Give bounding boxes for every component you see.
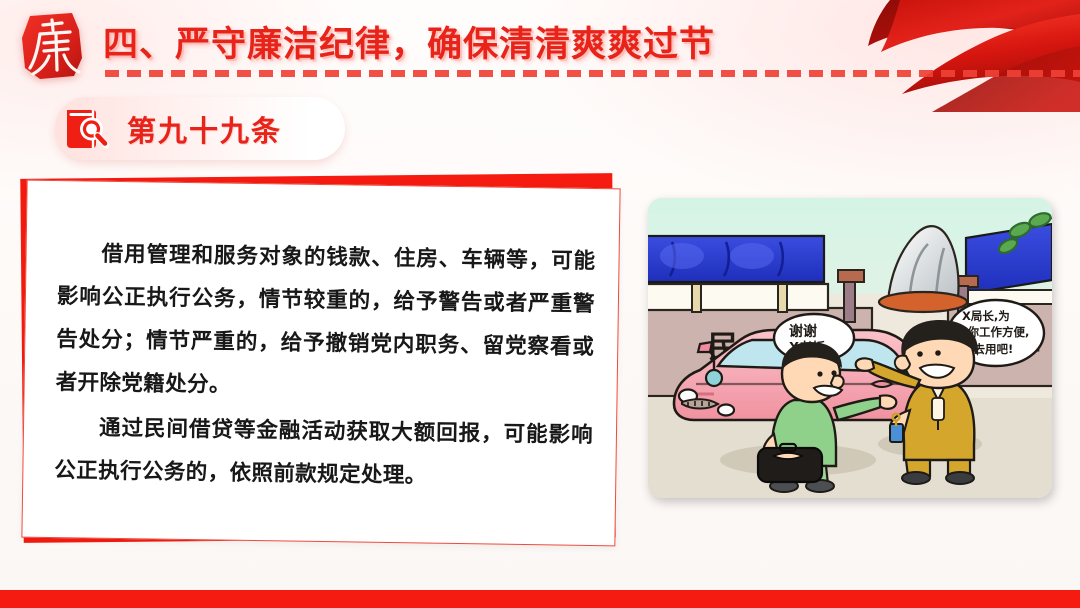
regulation-paragraph-1: 借用管理和服务对象的钱款、住房、车辆等，可能影响公正执行公务，情节较重的，给予警… bbox=[55, 232, 595, 412]
seal-character: 廉 bbox=[0, 0, 1, 1]
bubble-boss-text: X局长，为了你工作方便，拿去用吧！ bbox=[0, 0, 1, 1]
bribery-cartoon-illustration: 民 营 企 业 bbox=[648, 198, 1052, 498]
bottom-accent-bar bbox=[0, 590, 1080, 608]
svg-text:谢谢: 谢谢 bbox=[789, 323, 817, 340]
page-title: 四、严守廉洁纪律，确保清清爽爽过节 bbox=[103, 16, 715, 67]
regulation-text-content: 借用管理和服务对象的钱款、住房、车辆等，可能影响公正执行公务，情节较重的，给予警… bbox=[23, 180, 624, 547]
regulation-paragraph-2: 通过民间借贷等金融活动获取大额回报，可能影响公正执行公务的，依照前款规定处理。 bbox=[54, 406, 593, 500]
slide-canvas: 四、严守廉洁纪律，确保清清爽爽过节 第九十九条 借用管理和服务对象的钱款、住房、… bbox=[0, 0, 1080, 608]
book-search-icon bbox=[63, 105, 113, 153]
sign-right-text: 企业 bbox=[0, 0, 1, 1]
integrity-seal-icon bbox=[16, 8, 88, 82]
svg-text:X局长,为: X局长,为 bbox=[962, 309, 1010, 323]
red-ribbon-decoration bbox=[750, 0, 1080, 112]
bubble-official-text: 谢谢X老板 bbox=[0, 0, 1, 1]
title-dashed-divider bbox=[105, 70, 1080, 77]
article-number-label: 第九十九条 bbox=[127, 108, 282, 150]
article-number-badge[interactable]: 第九十九条 bbox=[55, 97, 345, 160]
sign-left-text: 民营 bbox=[0, 0, 1, 1]
illustration-alt-text: 卡通插画：企业老板把轿车钥匙递给局长 bbox=[0, 0, 1, 1]
